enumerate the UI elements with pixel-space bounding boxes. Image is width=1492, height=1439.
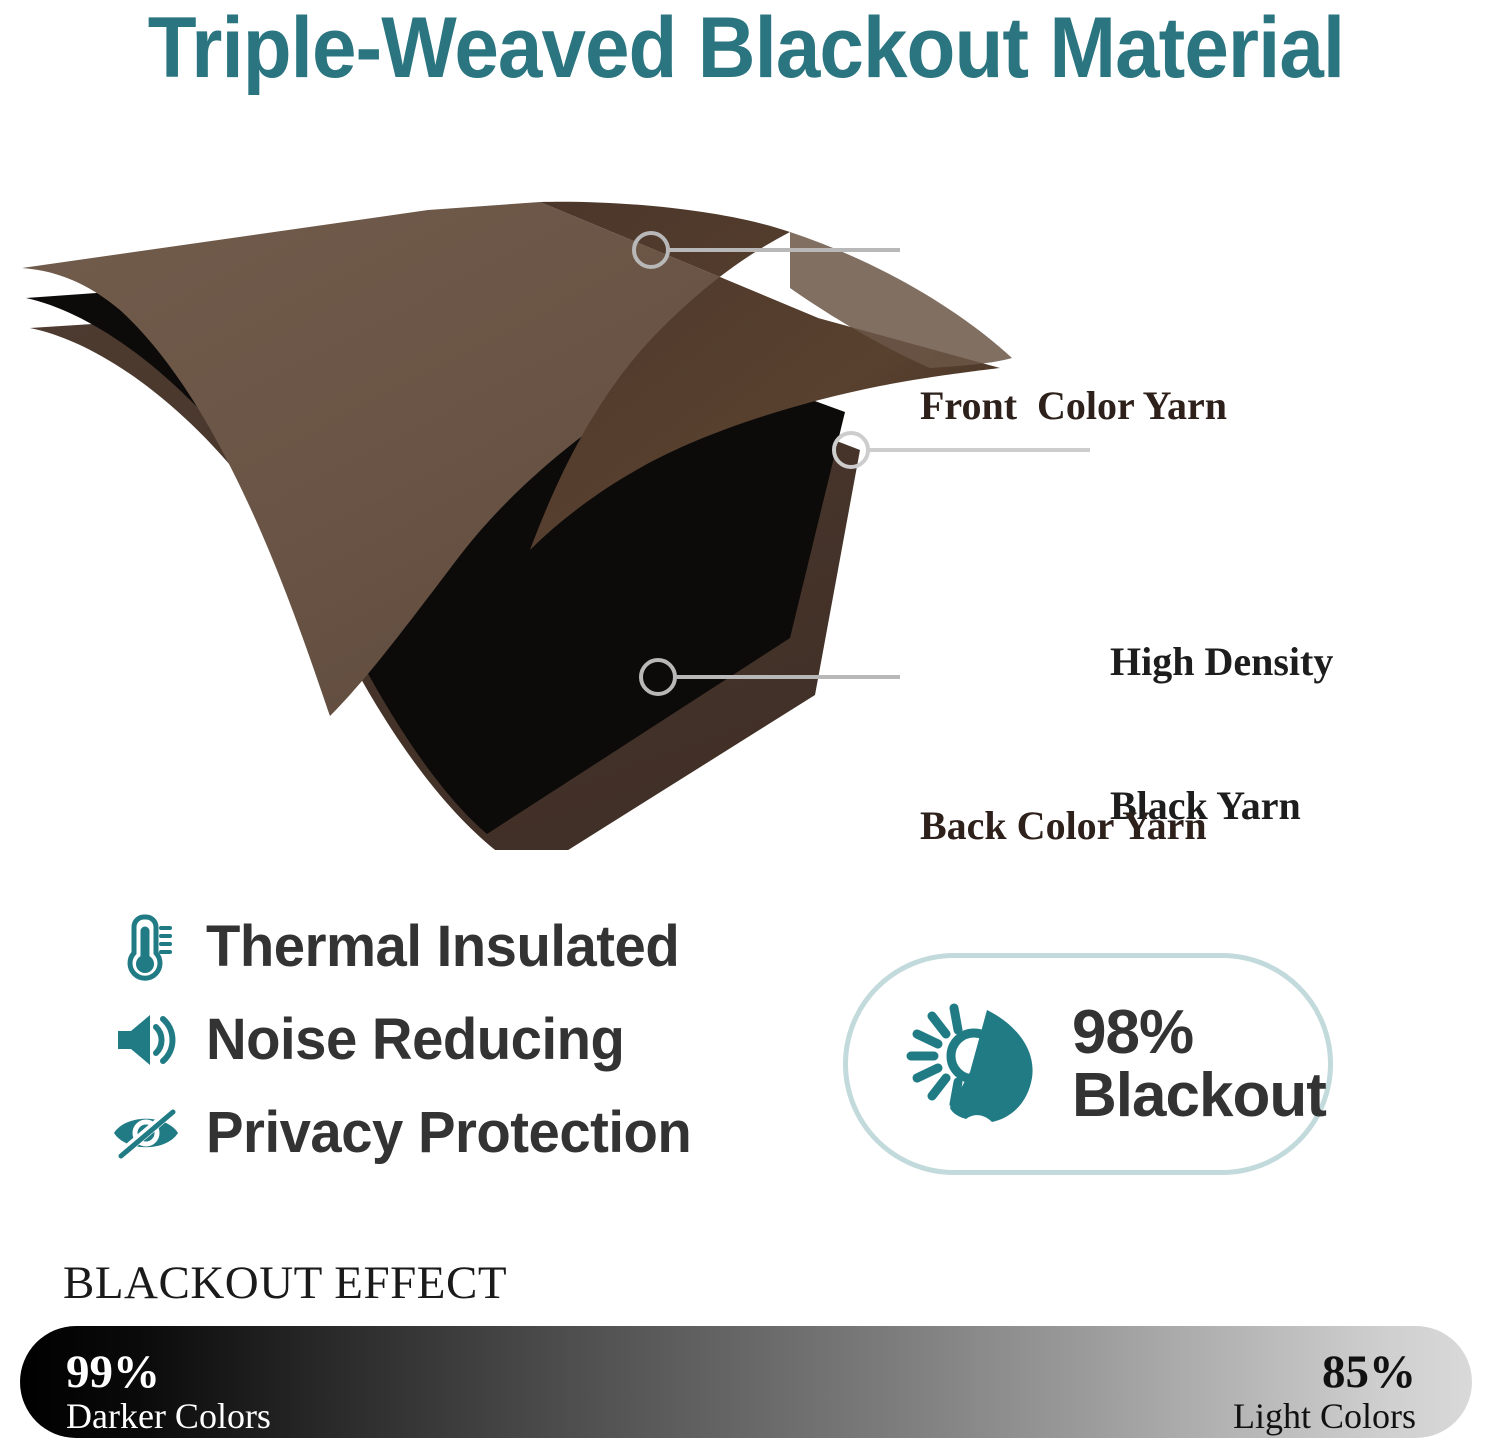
front-color-yarn-layer — [22, 202, 1012, 850]
feature-label-privacy-protection: Privacy Protection — [206, 1102, 691, 1164]
callout-label-front: Front Color Yarn — [920, 382, 1227, 430]
thermometer-icon — [108, 911, 184, 983]
feature-privacy-protection: Privacy Protection — [108, 1086, 768, 1179]
feature-noise-reducing: Noise Reducing — [108, 993, 768, 1086]
callout-label-back: Back Color Yarn — [920, 802, 1207, 850]
blackout-percent: 98% — [1072, 1001, 1326, 1064]
bar-stat-darker-colors: 99% Darker Colors — [66, 1348, 271, 1436]
blackout-badge-text: 98% Blackout — [1072, 1001, 1326, 1127]
bar-caption-light: Light Colors — [1233, 1396, 1416, 1436]
callout-label-high-density-line1: High Density — [1110, 638, 1333, 686]
speaker-volume-icon — [108, 1011, 184, 1069]
callout-label-high-density: High Density Black Yarn — [1110, 542, 1333, 926]
blackout-effect-gradient-bar: 99% Darker Colors 85% Light Colors — [20, 1326, 1472, 1438]
feature-list: Thermal Insulated Noise Reducing — [108, 900, 768, 1179]
feature-thermal-insulated: Thermal Insulated — [108, 900, 768, 993]
bar-stat-light-colors: 85% Light Colors — [1233, 1348, 1416, 1436]
eye-slash-icon — [108, 1106, 184, 1160]
blackout-effect-heading: BLACKOUT EFFECT — [63, 1258, 507, 1308]
blackout-word: Blackout — [1072, 1064, 1326, 1127]
bar-percent-darker: 99% — [66, 1348, 271, 1396]
feature-label-noise-reducing: Noise Reducing — [206, 1009, 624, 1071]
bar-percent-light: 85% — [1233, 1348, 1416, 1396]
page-title: Triple-Weaved Blackout Material — [52, 0, 1440, 96]
sun-blocked-icon — [894, 989, 1044, 1139]
fabric-layers-diagram: Front Color Yarn High Density Black Yarn… — [0, 150, 1492, 850]
callout-high-density — [834, 433, 1090, 467]
feature-label-thermal-insulated: Thermal Insulated — [206, 916, 679, 978]
bar-caption-darker: Darker Colors — [66, 1396, 271, 1436]
blackout-badge: 98% Blackout — [843, 953, 1333, 1175]
product-infographic: Triple-Weaved Blackout Material — [0, 0, 1492, 1439]
